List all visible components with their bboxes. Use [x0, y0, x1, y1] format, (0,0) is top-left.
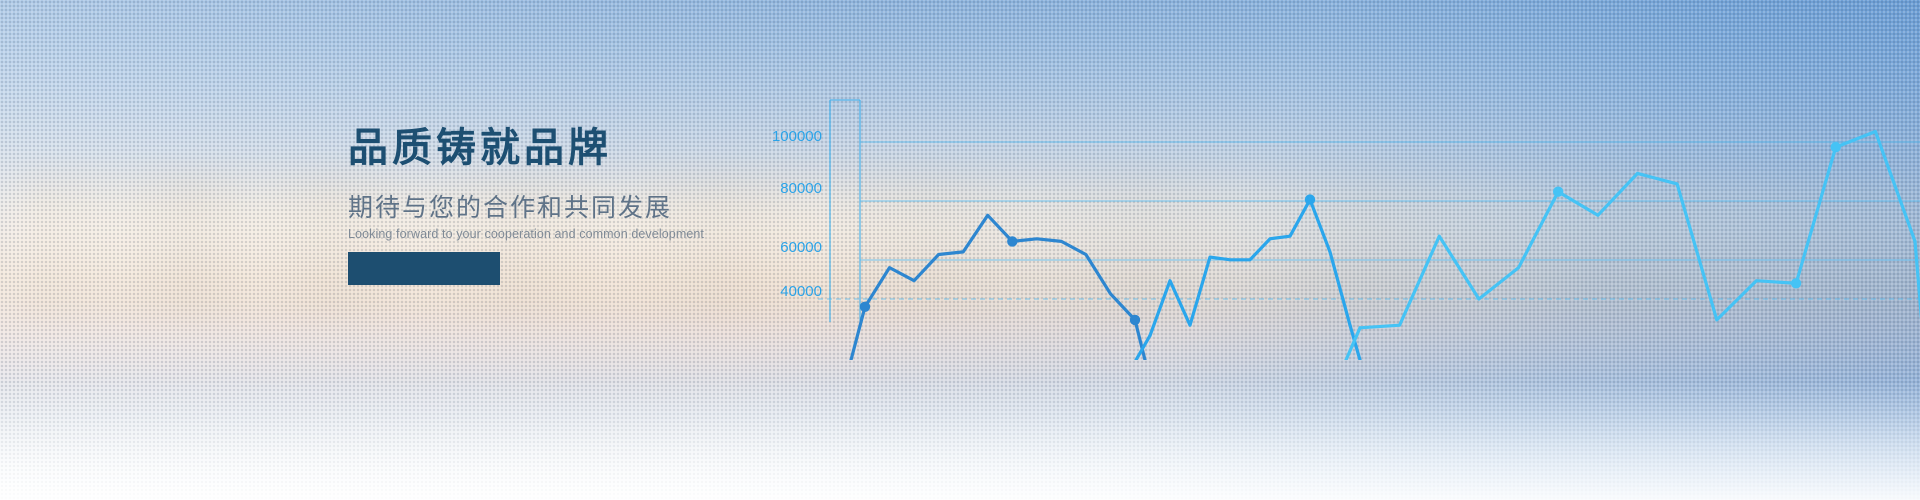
y-tick-label: 60000 [780, 239, 822, 256]
y-tick-label: 100000 [772, 128, 822, 145]
page-title: 品质铸就品牌 [348, 126, 768, 170]
chart-axis-frame [830, 100, 860, 322]
chart-y-axis-labels: 100000 80000 60000 40000 [772, 128, 822, 300]
y-tick-label: 80000 [780, 180, 822, 197]
chart-line-tail-series-2 [1136, 325, 1360, 360]
chart-line-series-2 [1150, 200, 1350, 336]
cta-button[interactable] [348, 252, 500, 285]
background-bottom-fade [0, 380, 1920, 500]
chart-data-point[interactable] [860, 302, 870, 312]
subtitle-chinese: 期待与您的合作和共同发展 [348, 194, 768, 223]
chart-line-series-3 [1360, 132, 1915, 328]
line-chart: 100000 80000 60000 40000 [760, 60, 1920, 360]
chart-data-point[interactable] [1831, 142, 1841, 152]
chart-line-series-1 [865, 215, 1135, 320]
chart-svg: 100000 80000 60000 40000 [760, 60, 1920, 360]
y-tick-label: 40000 [780, 283, 822, 300]
chart-data-point[interactable] [1791, 278, 1801, 288]
chart-line-tail-series-3 [1346, 241, 1920, 360]
headline-block: 品质铸就品牌 期待与您的合作和共同发展 Looking forward to y… [348, 126, 768, 241]
chart-data-point[interactable] [1007, 236, 1017, 246]
chart-data-point[interactable] [1305, 194, 1315, 204]
chart-data-point[interactable] [1553, 187, 1563, 197]
chart-line-tail-series-1 [851, 307, 1145, 360]
subtitle-english: Looking forward to your cooperation and … [348, 227, 768, 241]
hero-banner: 品质铸就品牌 期待与您的合作和共同发展 Looking forward to y… [0, 0, 1920, 500]
chart-series-layer [851, 132, 1920, 361]
chart-data-point[interactable] [1130, 315, 1140, 325]
